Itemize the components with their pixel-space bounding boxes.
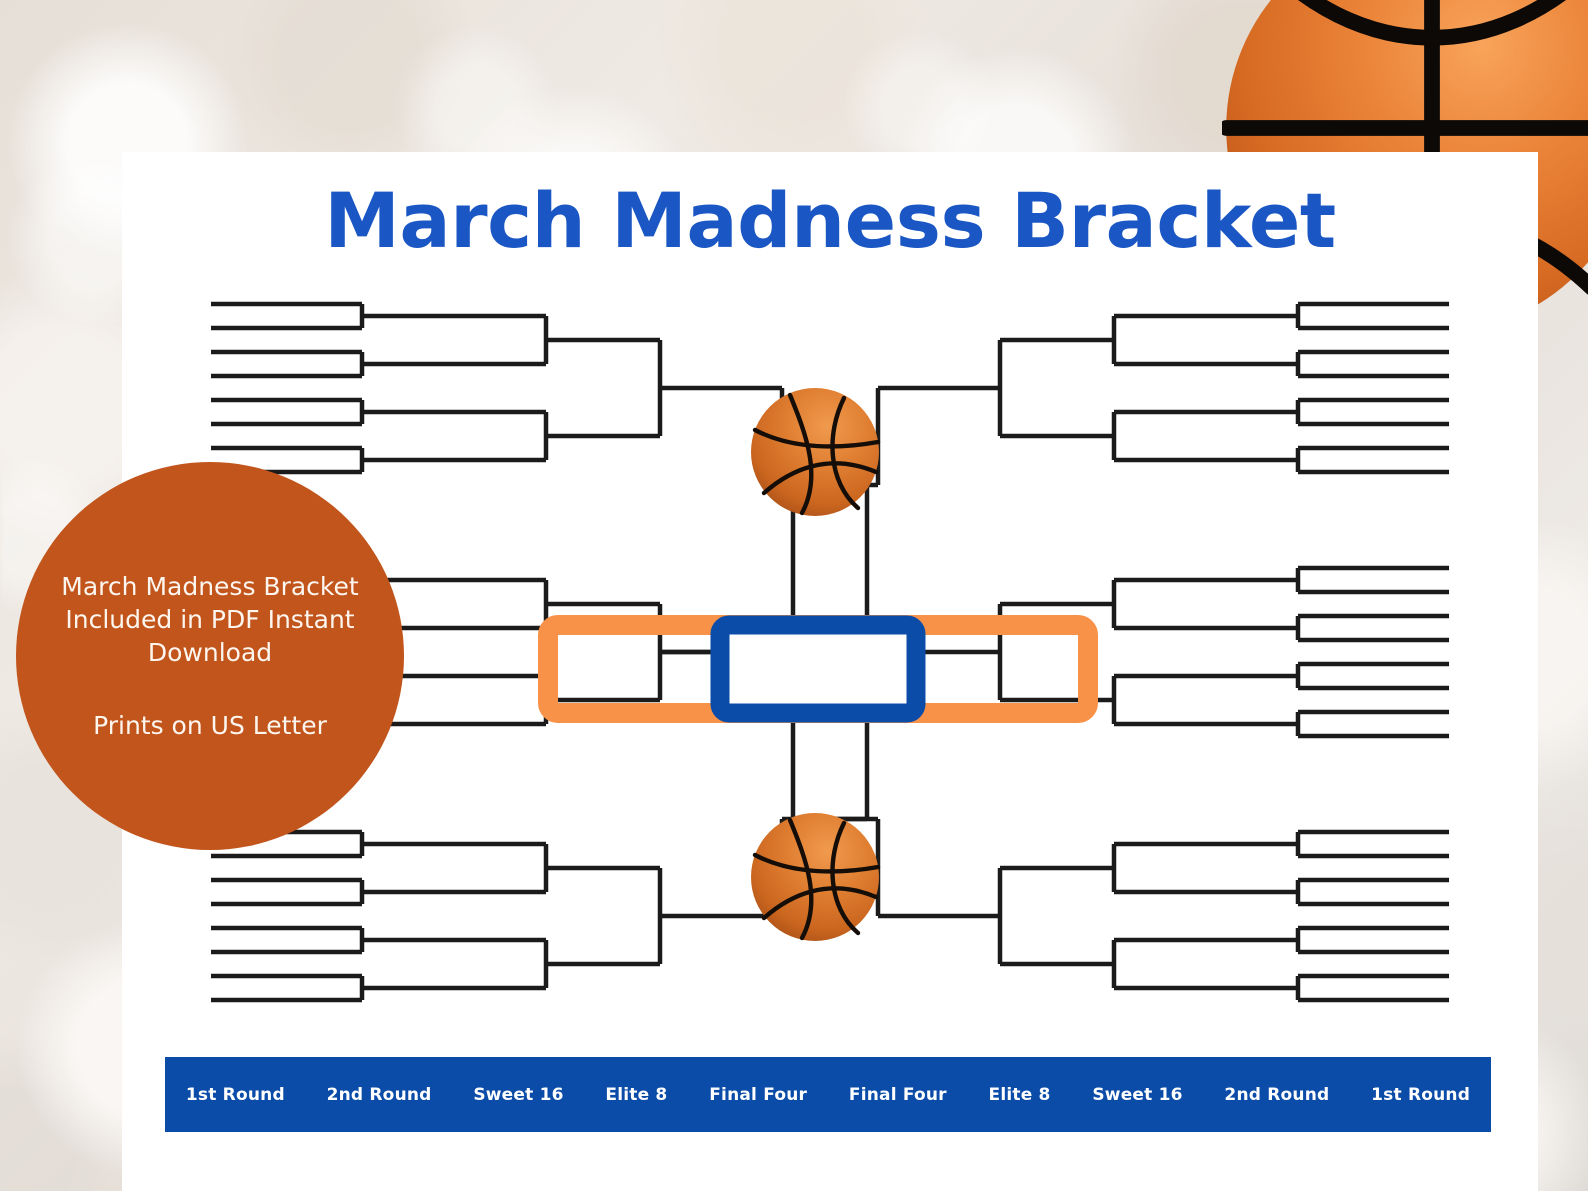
round-label-right-2: Elite 8 (989, 1085, 1051, 1105)
round-label-right-1: Final Four (849, 1085, 947, 1105)
round-label-right-3: Sweet 16 (1092, 1085, 1182, 1105)
promo-badge-line-1: March Madness Bracket Included in PDF In… (50, 570, 370, 670)
round-label-left-2: 2nd Round (327, 1085, 432, 1105)
championship-winner-box[interactable] (720, 625, 916, 713)
round-label-left-1: 1st Round (186, 1085, 285, 1105)
promo-badge-line-2: Prints on US Letter (93, 709, 327, 742)
screenshot-root: March Madness Bracket (0, 0, 1588, 1191)
left-sweet16-slots (546, 340, 660, 964)
right-round1-slots (1298, 304, 1449, 1000)
rounds-legend-bar: 1st Round 2nd Round Sweet 16 Elite 8 Fin… (165, 1057, 1491, 1132)
round-label-left-4: Elite 8 (605, 1085, 667, 1105)
basketball-bottom-icon (751, 813, 879, 941)
right-round2-slots (1114, 316, 1298, 988)
round-label-right-5: 1st Round (1371, 1085, 1470, 1105)
round-label-left-3: Sweet 16 (473, 1085, 563, 1105)
round-label-left-5: Final Four (709, 1085, 807, 1105)
basketball-top-icon (751, 388, 879, 516)
round-label-right-4: 2nd Round (1224, 1085, 1329, 1105)
promo-badge: March Madness Bracket Included in PDF In… (16, 462, 404, 850)
rounds-legend-left: 1st Round 2nd Round Sweet 16 Elite 8 Fin… (165, 1085, 828, 1105)
rounds-legend-right: Final Four Elite 8 Sweet 16 2nd Round 1s… (828, 1085, 1491, 1105)
